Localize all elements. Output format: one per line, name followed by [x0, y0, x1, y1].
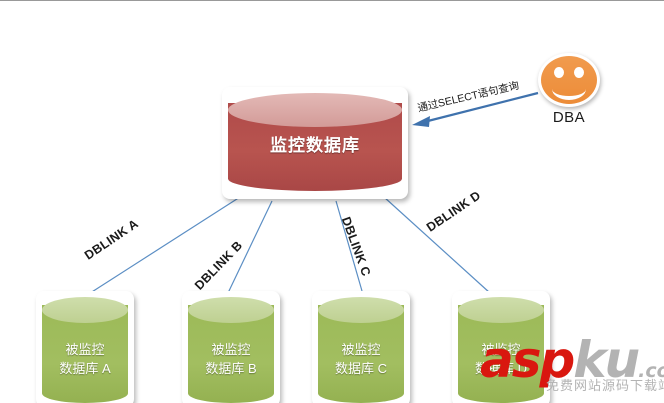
cylinder-top — [188, 297, 274, 323]
cylinder-top — [228, 93, 402, 127]
monitored-database-d[interactable]: 被监控 数据库 D — [452, 291, 550, 403]
monitored-database-a[interactable]: 被监控 数据库 A — [36, 291, 134, 403]
dba-label: DBA — [534, 109, 604, 126]
dba-actor[interactable]: DBA — [538, 53, 604, 133]
cylinder-top — [318, 297, 404, 323]
smiley-mouth — [552, 78, 586, 100]
cylinder-top — [458, 297, 544, 323]
diagram-canvas: 监控数据库 被监控 数据库 A 被监控 数据库 B 被监控 数据库 C 被监控 … — [0, 0, 664, 403]
monitored-database-b[interactable]: 被监控 数据库 B — [182, 291, 280, 403]
smiley-eye-left — [554, 67, 564, 78]
monitored-database-c[interactable]: 被监控 数据库 C — [312, 291, 410, 403]
monitor-database-cylinder[interactable]: 监控数据库 — [222, 87, 408, 199]
smiley-eye-right — [574, 67, 584, 78]
cylinder-top — [42, 297, 128, 323]
smiley-face-circle — [541, 56, 597, 104]
smiley-face-icon — [538, 53, 600, 107]
link-line-d — [384, 197, 490, 293]
